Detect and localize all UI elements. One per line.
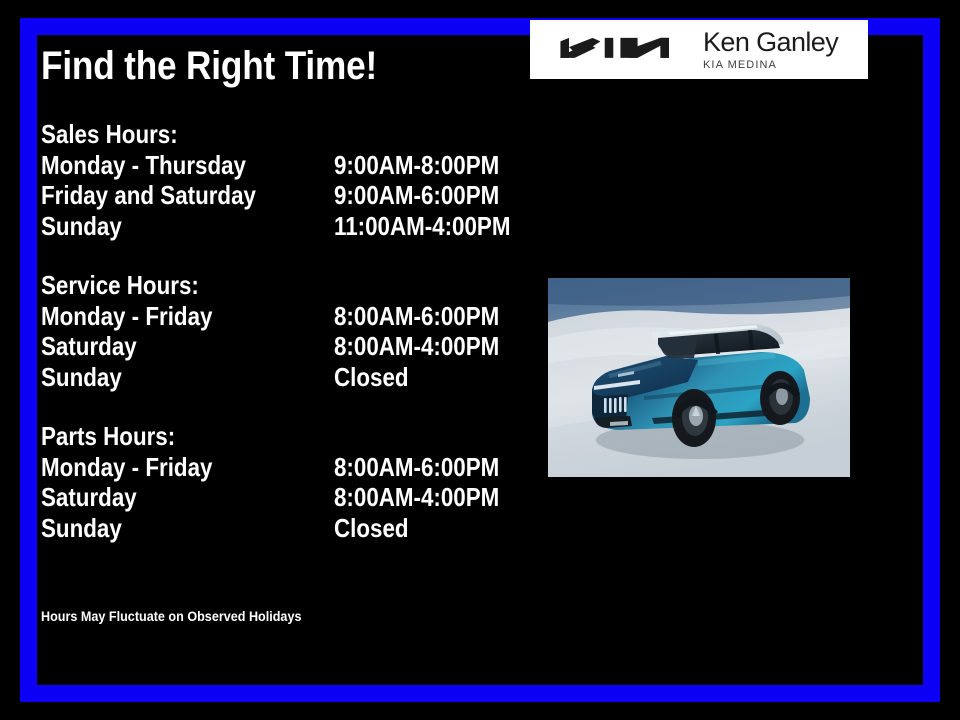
- hours-row-days: Monday - Friday: [41, 452, 212, 483]
- dealer-logo-banner: Ken Ganley KIA MEDINA: [530, 20, 868, 79]
- kia-logo-icon: [553, 35, 675, 65]
- page-title: Find the Right Time!: [41, 44, 377, 88]
- hours-row-days: Sunday: [41, 211, 122, 242]
- dealer-name-group: Ken Ganley KIA MEDINA: [703, 28, 838, 71]
- hours-row: Saturday8:00AM-4:00PM: [41, 331, 561, 362]
- hours-row: Monday - Thursday9:00AM-8:00PM: [41, 150, 561, 181]
- hours-row-time: Closed: [334, 513, 409, 544]
- hours-row-time: 11:00AM-4:00PM: [334, 211, 510, 242]
- hours-row-days: Monday - Thursday: [41, 150, 246, 181]
- hours-row: SundayClosed: [41, 362, 561, 393]
- slide-canvas: Find the Right Time! Sales Hours:Monday …: [0, 0, 960, 720]
- hours-row-days: Sunday: [41, 513, 122, 544]
- hours-row: Monday - Friday8:00AM-6:00PM: [41, 452, 561, 483]
- hours-row-time: 8:00AM-6:00PM: [334, 301, 499, 332]
- dealer-name: Ken Ganley: [703, 28, 838, 56]
- hours-block-heading: Parts Hours:: [41, 421, 488, 452]
- hours-row-time: 9:00AM-6:00PM: [334, 180, 499, 211]
- kia-ev9-suv-photo: [548, 278, 850, 477]
- hours-row: SundayClosed: [41, 513, 561, 544]
- hours-row-time: Closed: [334, 362, 409, 393]
- hours-list: Sales Hours:Monday - Thursday9:00AM-8:00…: [41, 119, 561, 543]
- hours-block: Sales Hours:Monday - Thursday9:00AM-8:00…: [41, 119, 561, 241]
- hours-row-time: 8:00AM-4:00PM: [334, 482, 499, 513]
- hours-row-days: Sunday: [41, 362, 122, 393]
- hours-row-days: Saturday: [41, 482, 137, 513]
- hours-row-time: 8:00AM-6:00PM: [334, 452, 499, 483]
- holiday-disclaimer: Hours May Fluctuate on Observed Holidays: [41, 608, 301, 625]
- hours-row: Sunday11:00AM-4:00PM: [41, 211, 561, 242]
- hours-row-days: Saturday: [41, 331, 137, 362]
- dealer-subtitle: KIA MEDINA: [703, 59, 838, 71]
- hours-row: Friday and Saturday9:00AM-6:00PM: [41, 180, 561, 211]
- hours-block-heading: Sales Hours:: [41, 119, 488, 150]
- hours-row: Monday - Friday8:00AM-6:00PM: [41, 301, 561, 332]
- hours-row-time: 8:00AM-4:00PM: [334, 331, 499, 362]
- hours-row-time: 9:00AM-8:00PM: [334, 150, 499, 181]
- hours-block: Parts Hours:Monday - Friday8:00AM-6:00PM…: [41, 421, 561, 543]
- hours-block: Service Hours:Monday - Friday8:00AM-6:00…: [41, 270, 561, 392]
- hours-block-heading: Service Hours:: [41, 270, 488, 301]
- hours-row: Saturday8:00AM-4:00PM: [41, 482, 561, 513]
- hours-row-days: Monday - Friday: [41, 301, 212, 332]
- hours-row-days: Friday and Saturday: [41, 180, 256, 211]
